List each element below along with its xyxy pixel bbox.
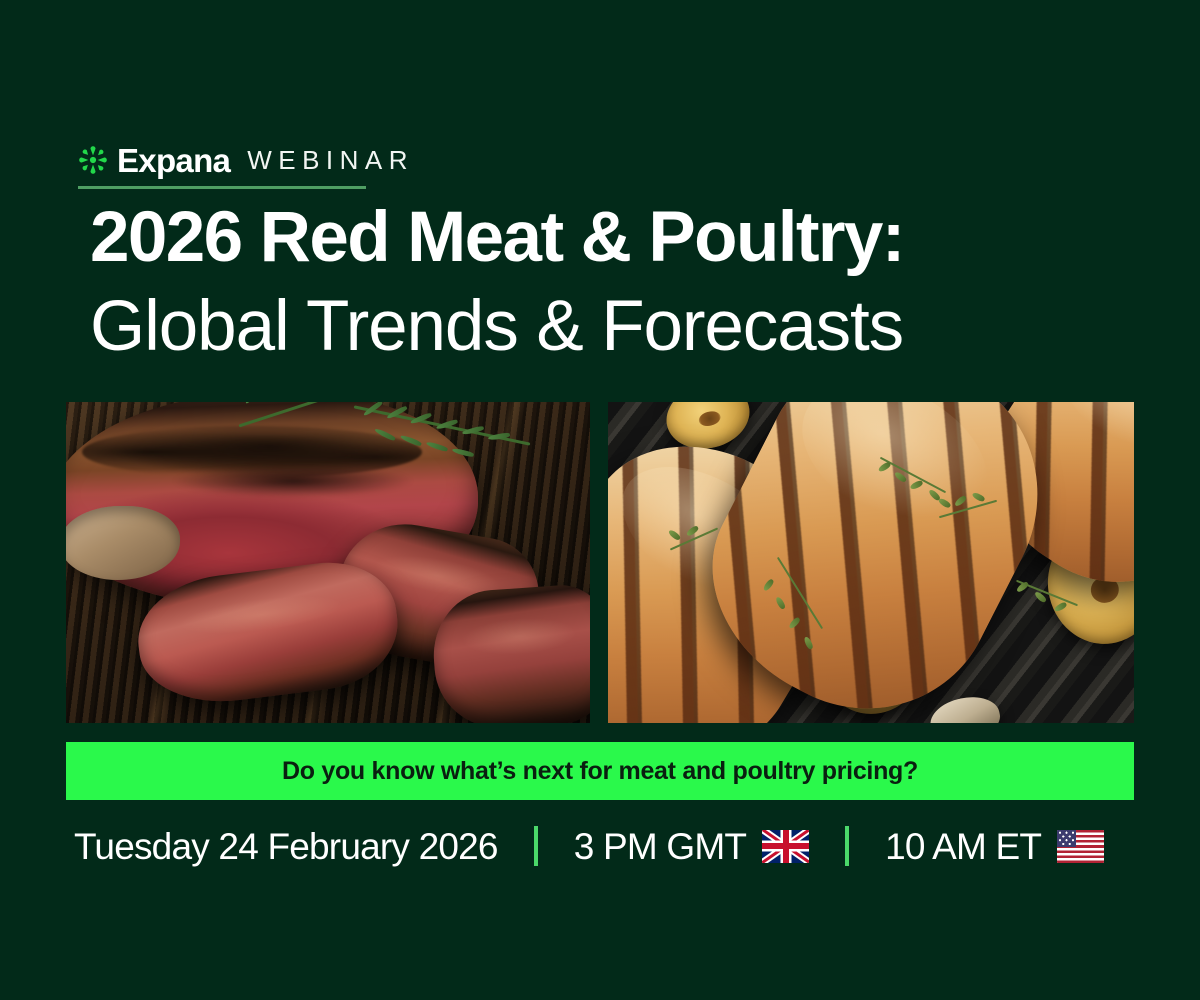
callout-banner: Do you know what’s next for meat and pou… xyxy=(66,742,1134,800)
schedule-divider xyxy=(534,826,538,866)
time-label-et: 10 AM ET xyxy=(885,828,1041,865)
webinar-date: Tuesday 24 February 2026 xyxy=(74,828,498,865)
slice-highlight xyxy=(176,588,345,641)
time-segment-et: 10 AM ET xyxy=(885,828,1104,865)
brand-name: Expana xyxy=(117,144,230,177)
steak-char-crust-2 xyxy=(168,464,418,498)
red-meat-photo xyxy=(66,402,590,723)
schedule-row: Tuesday 24 February 2026 3 PM GMT 10 AM … xyxy=(74,818,1144,874)
title-line-2: Global Trends & Forecasts xyxy=(90,291,1150,362)
brand-divider-rule xyxy=(78,186,366,189)
slice-highlight xyxy=(460,615,577,659)
webinar-promo-graphic: Expana WEBINAR 2026 Red Meat & Poultry: … xyxy=(0,0,1200,1000)
photo-strip xyxy=(66,402,1134,723)
page-title: 2026 Red Meat & Poultry: Global Trends &… xyxy=(90,202,1150,362)
us-flag-icon xyxy=(1057,830,1104,863)
lemon-char-spot xyxy=(697,409,722,428)
schedule-divider xyxy=(845,826,849,866)
expana-asterisk-icon xyxy=(78,145,108,175)
title-line-1: 2026 Red Meat & Poultry: xyxy=(90,202,1150,273)
time-label-gmt: 3 PM GMT xyxy=(574,828,746,865)
callout-text: Do you know what’s next for meat and pou… xyxy=(282,759,918,784)
time-segment-gmt: 3 PM GMT xyxy=(574,828,809,865)
poultry-photo xyxy=(608,402,1134,723)
brand-kicker: WEBINAR xyxy=(247,147,414,173)
brand-lockup: Expana WEBINAR xyxy=(78,140,414,180)
uk-flag-icon xyxy=(762,830,809,863)
